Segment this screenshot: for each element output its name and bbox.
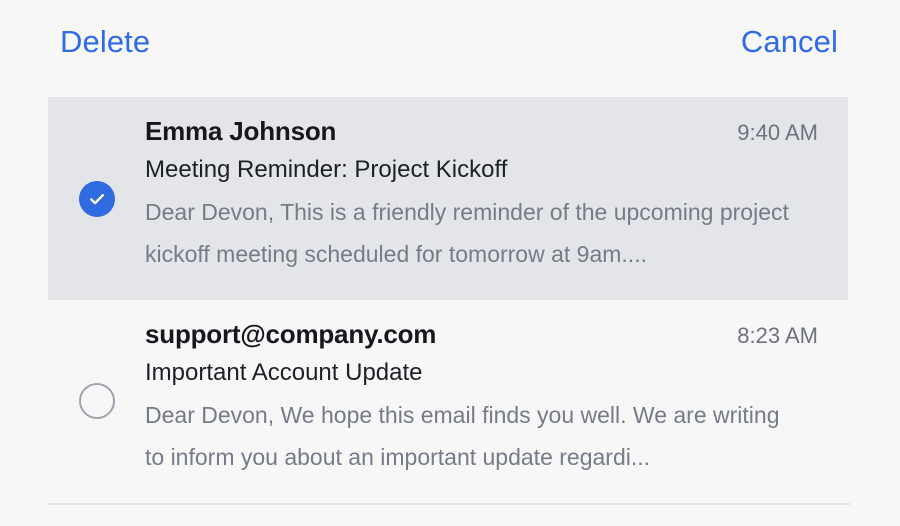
email-content: support@company.com 8:23 AM Important Ac… <box>145 300 848 501</box>
action-bar: Delete Cancel <box>0 0 900 82</box>
email-content: Emma Johnson 9:40 AM Meeting Reminder: P… <box>145 97 848 300</box>
email-sender: support@company.com <box>145 320 436 349</box>
email-timestamp: 8:23 AM <box>737 324 818 349</box>
email-subject: Meeting Reminder: Project Kickoff <box>145 156 818 185</box>
mail-selection-screen: Delete Cancel Emma Johnson 9:40 AM Meeti… <box>0 0 900 526</box>
email-preview: Dear Devon, We hope this email finds you… <box>145 394 793 479</box>
list-divider <box>48 503 850 505</box>
email-list-item[interactable]: Emma Johnson 9:40 AM Meeting Reminder: P… <box>48 97 848 300</box>
check-circle-filled-icon[interactable] <box>79 181 115 217</box>
email-subject: Important Account Update <box>145 359 818 388</box>
email-timestamp: 9:40 AM <box>737 121 818 146</box>
email-sender: Emma Johnson <box>145 117 336 146</box>
circle-outline-icon[interactable] <box>79 383 115 419</box>
email-preview: Dear Devon, This is a friendly reminder … <box>145 191 793 276</box>
email-list-item[interactable]: support@company.com 8:23 AM Important Ac… <box>48 300 848 501</box>
email-header-row: support@company.com 8:23 AM <box>145 320 818 349</box>
email-list: Emma Johnson 9:40 AM Meeting Reminder: P… <box>0 97 900 501</box>
selection-column <box>48 97 145 300</box>
selection-column <box>48 300 145 501</box>
email-header-row: Emma Johnson 9:40 AM <box>145 117 818 146</box>
cancel-button[interactable]: Cancel <box>741 26 838 57</box>
delete-button[interactable]: Delete <box>60 26 150 57</box>
